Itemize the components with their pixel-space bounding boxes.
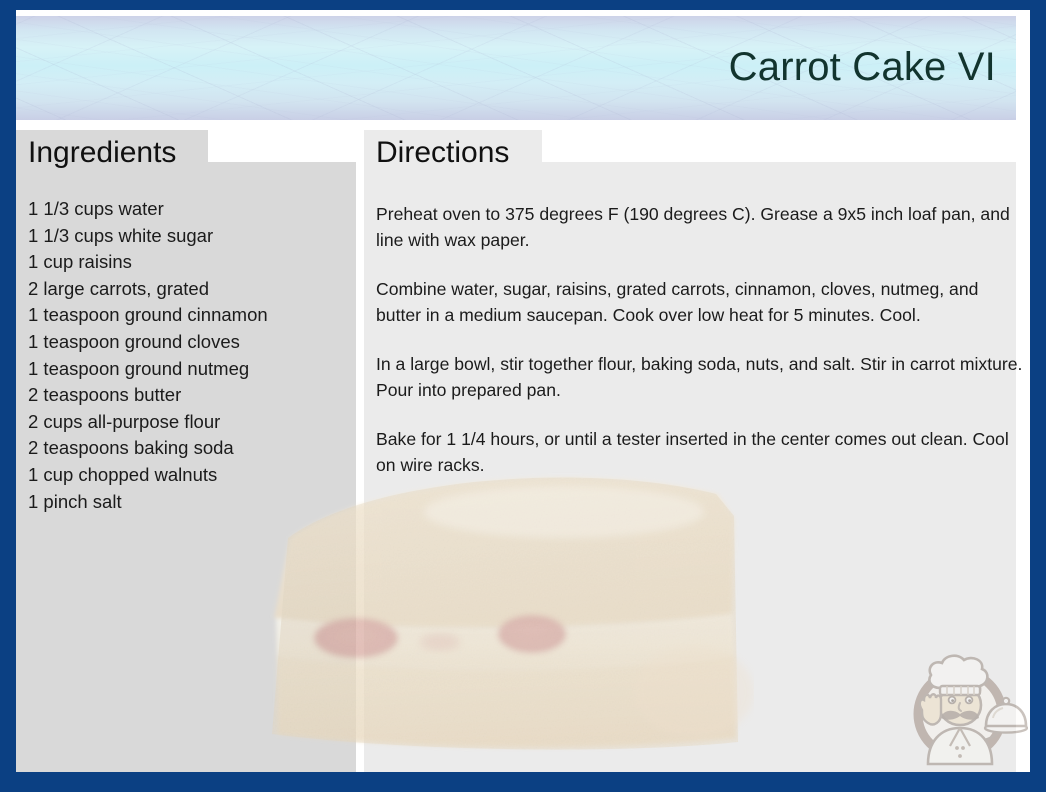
list-item: 1 1/3 cups white sugar — [28, 223, 358, 250]
directions-text: Preheat oven to 375 degrees F (190 degre… — [376, 202, 1024, 478]
page-title: Carrot Cake VI — [729, 47, 996, 87]
list-item: 1 1/3 cups water — [28, 196, 358, 223]
list-item: 2 teaspoons baking soda — [28, 435, 358, 462]
list-item: 1 teaspoon ground nutmeg — [28, 356, 358, 383]
directions-paragraph: In a large bowl, stir together flour, ba… — [376, 352, 1024, 403]
ingredients-heading: Ingredients — [16, 130, 208, 176]
list-item: 1 cup chopped walnuts — [28, 462, 358, 489]
list-item: 1 cup raisins — [28, 249, 358, 276]
list-item: 1 pinch salt — [28, 489, 358, 516]
list-item: 2 cups all-purpose flour — [28, 409, 358, 436]
list-item: 1 teaspoon ground cinnamon — [28, 302, 358, 329]
directions-heading: Directions — [364, 130, 542, 176]
directions-paragraph: Preheat oven to 375 degrees F (190 degre… — [376, 202, 1024, 253]
ingredients-list: 1 1/3 cups water 1 1/3 cups white sugar … — [28, 196, 358, 515]
directions-paragraph: Bake for 1 1/4 hours, or until a tester … — [376, 427, 1024, 478]
directions-paragraph: Combine water, sugar, raisins, grated ca… — [376, 277, 1024, 328]
header-banner: Carrot Cake VI — [16, 16, 1016, 120]
list-item: 2 large carrots, grated — [28, 276, 358, 303]
recipe-card-page: Carrot Cake VI Ingredients Directions — [0, 0, 1046, 792]
list-item: 1 teaspoon ground cloves — [28, 329, 358, 356]
list-item: 2 teaspoons butter — [28, 382, 358, 409]
recipe-sheet: Carrot Cake VI Ingredients Directions — [16, 10, 1030, 772]
